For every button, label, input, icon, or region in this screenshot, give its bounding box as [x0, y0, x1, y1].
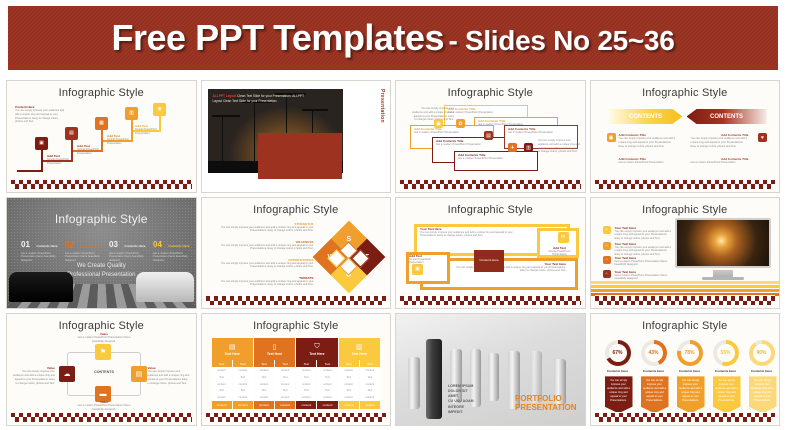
slide-7-icon-left: ▣ [412, 264, 423, 275]
slide-10-column-1: ▤ Text Here Text Text contentcontent Tex… [212, 338, 253, 409]
slide-10-subheader-3: Text Text [296, 360, 337, 367]
mobile-icon: ▯ [273, 343, 277, 351]
slide-1-step-label-1: Add Text Simple PowerPoint Presentation [47, 154, 77, 166]
slide-9-node-left: ☁ [59, 366, 75, 382]
book-icon: ▥ [356, 343, 363, 351]
slide-4-arrow-left: CONTENTS [687, 109, 767, 124]
table-row: contentcontent [254, 367, 295, 374]
slide-thumbnail-8[interactable]: Infographic Style ▫ ▫ ▫ ▫ Your Text Here… [590, 197, 781, 310]
table-row: TextText [254, 374, 295, 381]
slide-thumbnail-11[interactable]: LOREM IPSUM DOLOR SIT AMET, CU USU AGAM … [395, 313, 586, 426]
slide-8-title: Infographic Style [591, 204, 780, 216]
slide-8-monitor [675, 218, 771, 280]
slide-10-footer-3: content content [296, 401, 337, 409]
slide-11-lorem: LOREM IPSUM DOLOR SIT AMET, CU USU AGAM … [448, 384, 474, 415]
slide-12-caption-1: Contents Here [599, 369, 637, 373]
slide-1-steps: Content Here You can simply impress your… [13, 103, 190, 178]
slide-12-ribbon-1: You can simply impress your audience and… [605, 376, 633, 413]
slide-4-title: Infographic Style [591, 87, 780, 99]
slide-12-caption-4: Contents Here [707, 369, 745, 373]
slide-9-title: Infographic Style [7, 320, 196, 332]
slide-8-stripe-1 [591, 281, 780, 284]
slide-12-donut-5: 90% [749, 340, 775, 366]
slide-9-center-label: CONTENTS [81, 370, 127, 374]
table-row: contentcontent [296, 394, 337, 401]
slide-10-footer-2: content content [254, 401, 295, 409]
slide-11-piece-2 [426, 339, 442, 419]
slide-5-white-pieces [136, 272, 194, 302]
slide-9-label-top: Value Get a modern PowerPoint Presentati… [77, 332, 131, 344]
slide-12-caption-3: Contents Here [671, 369, 709, 373]
slide-11-title: PORTFOLIO PRESENTATION [515, 394, 576, 413]
slide-thumbnail-12[interactable]: Infographic Style 67% 43% 78% 55% 90% Co… [590, 313, 781, 426]
table-row: TextText [296, 388, 337, 395]
slide-10-header-2: ▯ Text Here [254, 338, 295, 360]
slide-9-footer-pattern [11, 412, 192, 422]
slide-4-list-left: Add Contents Title Get a modern PowerPoi… [619, 157, 677, 165]
slide-12-caption-5: Contents Here [743, 369, 781, 373]
slide-3-title: Infographic Style [396, 87, 585, 99]
slide-5-item-3: 03 Contents Here Get a modern PowerPoint… [109, 234, 147, 263]
slide-12-donut-1: 67% [605, 340, 631, 366]
slide-3-side-note: You can simply impress your audience and… [538, 139, 580, 154]
slide-10-header-3: ⛉ Text Here [296, 338, 337, 360]
table-row: TextText [339, 374, 380, 381]
slide-4-text-left: Add Contents Title You can simply impres… [619, 133, 677, 148]
slide-thumbnail-9[interactable]: Infographic Style ⚑ ▤ ▬ ☁ Value Get a mo… [6, 313, 197, 426]
slide-3-box-3-text: Add Contents Title Get a modern PowerPoi… [414, 127, 464, 135]
slide-8-bullet-icon-3: ▫ [603, 256, 611, 264]
slide-3-box-2-text: Add Contents Title Get a modern PowerPoi… [478, 119, 528, 127]
slide-2-side-label-bottom: Awesome [376, 137, 382, 162]
slide-10-subheader-2: Text Text [254, 360, 295, 367]
table-row: contentcontent [212, 394, 253, 401]
slide-10-body-3: contentcontent TextText contentcontent T… [296, 367, 337, 401]
slide-10-footer-1: content content [212, 401, 253, 409]
slide-5-item-1: 01 Contents Here Get a modern PowerPoint… [21, 234, 59, 263]
table-row: TextText [212, 374, 253, 381]
table-row: contentcontent [212, 367, 253, 374]
slide-10-footer-pattern [206, 412, 387, 422]
slide-thumbnail-4[interactable]: Infographic Style CONTENTS CONTENTS ▣ ♥ … [590, 80, 781, 193]
slide-1-step-label-3: Add Text Simple PowerPoint Presentation [107, 134, 137, 146]
slide-3-icon-2: ✿ [456, 119, 465, 128]
slide-10-table: ▤ Text Here Text Text contentcontent Tex… [212, 338, 381, 409]
slide-10-subheader-4: Text Text [339, 360, 380, 367]
slide-8-footer-pattern [595, 295, 776, 305]
table-row: contentcontent [254, 394, 295, 401]
slide-12-ribbon-5: You can simply impress your audience and… [749, 376, 777, 413]
slide-6-footer-pattern [206, 295, 387, 305]
slide-5-item-4: 04 Contents Here Get a modern PowerPoint… [153, 234, 191, 263]
slide-3-icon-3: ▤ [484, 131, 493, 140]
slide-10-title: Infographic Style [202, 320, 391, 332]
table-row: TextText [296, 374, 337, 381]
slide-8-bullet-text-1: Your Text Here You can simply impress yo… [615, 226, 673, 241]
slide-3-box-1-text: Add Contents Title Get a modern PowerPoi… [448, 107, 498, 115]
table-row: TextText [254, 388, 295, 395]
slide-1-step-icon-2: ▤ [65, 127, 78, 140]
slide-10-column-2: ▯ Text Here Text Text contentcontent Tex… [254, 338, 295, 409]
table-row: TextText [212, 388, 253, 395]
slide-4-text-right: Add Contents Title You can simply impres… [691, 133, 749, 148]
slide-3-icon-4: ✈ [508, 143, 517, 152]
table-row: contentcontent [339, 381, 380, 388]
slide-8-bullet-text-4: Your Text Here Get a modern PowerPoint P… [615, 270, 673, 282]
slide-1-step-label-2: Add Text Simple PowerPoint Presentation [77, 144, 107, 156]
slide-2-overlay-text: ALLPPT Layout Clean Text Slide for your … [213, 94, 308, 104]
slide-thumbnail-7[interactable]: Infographic Style Your Text Here You can… [395, 197, 586, 310]
slide-1-step-label-4: Add Text Simple PowerPoint Presentation [135, 124, 165, 136]
slide-thumbnail-1[interactable]: Infographic Style Content Here You can s… [6, 80, 197, 193]
slide-12-donut-3: 78% [677, 340, 703, 366]
slide-10-column-3: ⛉ Text Here Text Text contentcontent Tex… [296, 338, 337, 409]
page-title: Free PPT Templates [112, 17, 444, 58]
slide-3-icon-5: ▥ [524, 143, 533, 152]
slide-12-donut-4: 55% [713, 340, 739, 366]
slide-1-note: Content Here You can simply impress your… [15, 105, 67, 124]
slide-8-monitor-image [677, 220, 769, 266]
slide-4-list-right: Add Contents Title Get a modern PowerPoi… [691, 157, 749, 165]
slide-4-footer-pattern [595, 179, 776, 189]
table-row: contentcontent [254, 381, 295, 388]
slide-6-row-2: WEAKNESS You can simply impress your aud… [214, 240, 314, 252]
table-row: contentcontent [296, 381, 337, 388]
slide-7-text-right: Add Text Simple PowerPoint Presentation [543, 246, 577, 258]
slide-3-footer-pattern [400, 179, 581, 189]
slide-5-item-2: 02 Contents Here Get a modern PowerPoint… [65, 234, 103, 263]
slide-7-center-label: Contents Here [474, 250, 504, 272]
page-root: Free PPT Templates - Slides No 25~36 Inf… [0, 0, 786, 430]
slide-thumbnail-3[interactable]: Infographic Style You can simply impress… [395, 80, 586, 193]
slide-11-piece-5 [488, 353, 499, 401]
slide-1-step-icon-1: ▣ [35, 137, 48, 150]
slide-6-row-3: OPPORTUNITIES You can simply impress you… [214, 258, 314, 270]
slide-thumbnail-5[interactable]: Infographic Style 01 Contents Here Get a… [6, 197, 197, 310]
slide-3-box-5-text: Add Contents Title Get a modern PowerPoi… [508, 127, 558, 135]
slide-thumbnail-10[interactable]: Infographic Style ▤ Text Here Text Text … [201, 313, 392, 426]
slide-9-node-right: ▤ [131, 366, 147, 382]
printer-icon: ▤ [229, 343, 236, 351]
slide-12-ribbon-4: You can simply impress your audience and… [713, 376, 741, 413]
header-banner: Free PPT Templates - Slides No 25~36 [8, 6, 778, 70]
slide-12-footer-pattern [595, 412, 776, 422]
slide-7-text-top: Your Text Here You can simply impress yo… [420, 227, 520, 239]
slide-thumbnail-6[interactable]: Infographic Style STRENGTHS You can simp… [201, 197, 392, 310]
slide-10-body-1: contentcontent TextText contentcontent T… [212, 367, 253, 401]
slide-8-monitor-base [702, 277, 744, 280]
slide-12-ribbon-3: You can simply impress your audience and… [677, 376, 705, 413]
table-row: contentcontent [212, 381, 253, 388]
table-row: contentcontent [339, 394, 380, 401]
slide-4-icon-right: ♥ [758, 133, 767, 142]
slide-9-label-right: Value You can simply impress your audien… [148, 366, 190, 385]
slide-6-title: Infographic Style [202, 204, 391, 216]
slide-10-header-4: ▥ Text Here [339, 338, 380, 360]
slide-9-node-top: ⚑ [95, 344, 111, 360]
slide-4-icon-left: ▣ [607, 133, 616, 142]
slide-thumbnail-2[interactable]: ALLPPT Layout Clean Text Slide for your … [201, 80, 392, 193]
table-row: contentcontent [339, 367, 380, 374]
page-subtitle: - Slides No 25~36 [448, 25, 674, 56]
slide-7-icon-right: ✉ [558, 232, 569, 243]
slide-10-footer-4: content content [339, 401, 380, 409]
slide-8-bullet-icon-1: ▫ [603, 226, 611, 234]
slide-12-caption-2: Contents Here [635, 369, 673, 373]
slide-8-bullet-icon-4: ▫ [603, 270, 611, 278]
slide-10-subheader-1: Text Text [212, 360, 253, 367]
slide-10-column-4: ▥ Text Here Text Text contentcontent Tex… [339, 338, 380, 409]
slide-7-footer-pattern [400, 295, 581, 305]
slide-3-icon-1: ▣ [434, 119, 443, 128]
slide-1-step-icon-5: ◉ [153, 103, 166, 116]
slide-12-donut-2: 43% [641, 340, 667, 366]
slide-8-stripe-2 [591, 285, 780, 288]
slide-thumbnail-grid: Infographic Style Content Here You can s… [6, 80, 780, 426]
slide-1-title: Infographic Style [7, 87, 196, 99]
table-row: contentcontent [296, 367, 337, 374]
shield-icon: ⛉ [314, 343, 319, 351]
slide-5-title: Infographic Style [7, 212, 196, 226]
table-row: TextText [339, 388, 380, 395]
slide-7-title: Infographic Style [396, 204, 585, 216]
slide-9-label-left: Value You can simply impress your audien… [13, 366, 55, 385]
slide-3-box-4-text: Add Contents Title Get a modern PowerPoi… [436, 139, 486, 147]
slide-4-arrow-right: CONTENTS [609, 109, 683, 124]
slide-8-monitor-screen [675, 218, 771, 268]
slide-7-text-bottom: Your Text Here You can simply impress yo… [456, 262, 566, 274]
slide-2-red-block [258, 133, 342, 179]
slide-3-box-6-text: Add Contents Title Get a modern PowerPoi… [458, 153, 508, 161]
slide-1-footer-pattern [11, 179, 192, 189]
slide-12-ribbon-2: You can simply impress your audience and… [641, 376, 669, 413]
slide-8-bullet-text-2: Your Text Here You can simply impress yo… [615, 242, 673, 257]
slide-8-bullet-text-3: Your Text Here Get a modern PowerPoint P… [615, 256, 673, 268]
slide-10-body-4: contentcontent TextText contentcontent T… [339, 367, 380, 401]
slide-8-stripe-3 [591, 289, 780, 292]
slide-8-bullet-icon-2: ▫ [603, 242, 611, 250]
slide-5-black-pieces [9, 272, 73, 302]
slide-10-body-2: contentcontent TextText contentcontent T… [254, 367, 295, 401]
slide-6-row-4: THREATS You can simply impress your audi… [214, 276, 314, 288]
header-text: Free PPT Templates - Slides No 25~36 [112, 17, 675, 59]
slide-11-piece-1 [408, 357, 420, 409]
slide-10-header-1: ▤ Text Here [212, 338, 253, 360]
slide-12-title: Infographic Style [591, 320, 780, 332]
slide-2-side-label-top: Presentation [379, 89, 385, 123]
slide-1-step-icon-3: ▦ [95, 117, 108, 130]
slide-1-step-icon-4: ▥ [125, 107, 138, 120]
slide-6-row-1: STRENGTHS You can simply impress your au… [214, 222, 314, 234]
slide-9-label-bottom: Value Get a modern PowerPoint Presentati… [77, 400, 131, 412]
